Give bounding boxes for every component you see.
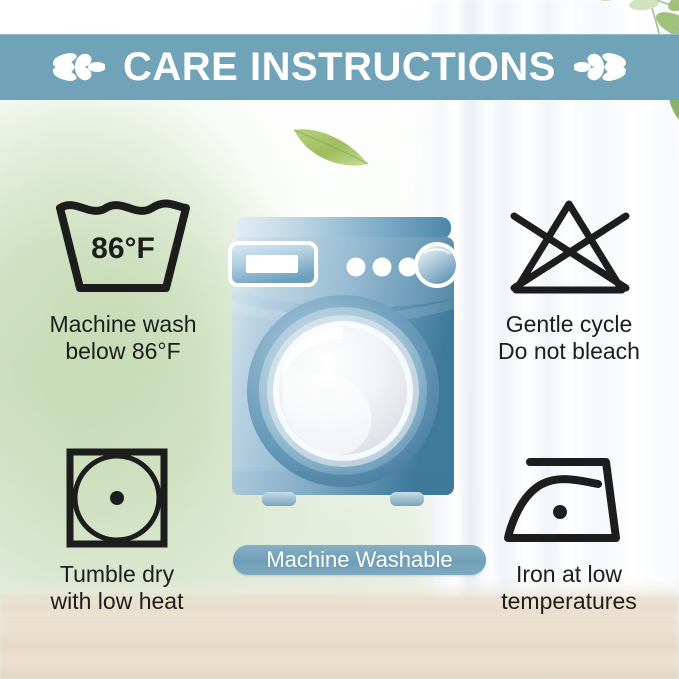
care-symbol-tumble-dry-caption: Tumble dry with low heat (51, 561, 184, 615)
status-badge-label: Machine Washable (266, 549, 452, 571)
iron-low-temperature-icon (494, 446, 644, 555)
fleur-de-lis-icon-right (574, 45, 634, 89)
page-title: CARE INSTRUCTIONS (123, 47, 556, 87)
status-badge: Machine Washable (233, 545, 486, 575)
care-symbol-iron: Iron at low temperatures (466, 446, 672, 615)
washing-machine-illustration (232, 213, 454, 531)
wash-tub-icon: 86°F (48, 196, 198, 305)
detergent-drawer (230, 243, 316, 285)
fleur-de-lis-icon-left (45, 45, 105, 89)
tumble-dry-low-icon (56, 446, 178, 555)
wash-temperature-label: 86°F (91, 232, 155, 265)
care-symbol-wash-caption: Machine wash below 86°F (49, 311, 196, 365)
control-dial (414, 242, 460, 288)
header-banner: CARE INSTRUCTIONS (0, 34, 679, 100)
do-not-bleach-triangle-icon (494, 196, 644, 305)
care-symbol-tumble-dry: Tumble dry with low heat (14, 446, 220, 615)
care-symbol-bleach: Gentle cycle Do not bleach (466, 196, 672, 365)
care-symbol-iron-caption: Iron at low temperatures (501, 561, 637, 615)
washer-door (247, 295, 439, 487)
leaf-icon (288, 118, 374, 172)
care-symbol-bleach-caption: Gentle cycle Do not bleach (498, 311, 640, 365)
care-instructions-graphic: CARE INSTRUCTIONS (0, 0, 679, 679)
control-buttons (347, 258, 418, 277)
care-symbol-wash: 86°F Machine wash below 86°F (20, 196, 226, 365)
